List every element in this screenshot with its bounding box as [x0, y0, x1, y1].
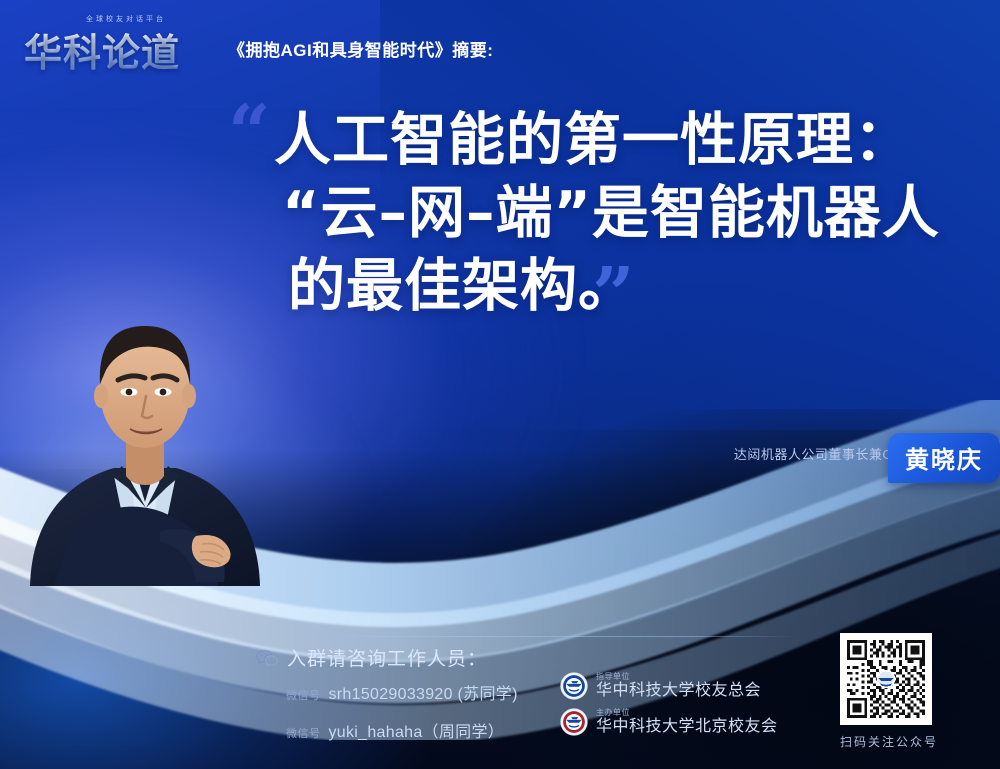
hust-seal-icon [560, 672, 588, 700]
poster-root: 全球校友对话平台 华科论道 《拥抱AGI和具身智能时代》摘要: “ 人工智能的第… [0, 0, 1000, 769]
organization-name: 华中科技大学北京校友会 [596, 718, 778, 736]
organization-row: 指导单位 华中科技大学校友总会 [560, 672, 778, 700]
speaker-portrait [10, 296, 280, 586]
contact-label: 微信号 [286, 687, 321, 703]
qr-caption: 扫码关注公众号 [840, 733, 938, 750]
wechat-icon [256, 649, 278, 667]
qr-code-block: 扫码关注公众号 [840, 633, 938, 750]
speaker-name-badge: 黄晓庆 [888, 433, 1000, 483]
quote-line-1: 人工智能的第一性原理： [274, 104, 954, 177]
footer-title: 入群请咨询工作人员： [287, 644, 487, 671]
contact-value[interactable]: srh15029033920 (苏同学) [329, 680, 518, 704]
organization-kind: 主办单位 [596, 709, 778, 718]
speaker-credit: 达闼机器人公司董事长兼CEO 黄晓庆 [734, 444, 912, 463]
organization-name: 华中科技大学校友总会 [596, 682, 761, 700]
header-subtitle: 《拥抱AGI和具身智能时代》摘要: [228, 36, 493, 70]
speaker-title: 达闼机器人公司董事长兼CEO [734, 444, 912, 463]
contact-value[interactable]: yuki_hahaha（周同学） [329, 718, 505, 742]
organization-row: 主办单位 华中科技大学北京校友会 [560, 708, 778, 736]
organization-list: 指导单位 华中科技大学校友总会 主办单位 华中科技大学北京校友会 [560, 672, 778, 744]
footer-divider [287, 636, 793, 637]
contact-label: 微信号 [286, 725, 321, 741]
brand-logo[interactable]: 全球校友对话平台 华科论道 [24, 14, 214, 70]
quote-close-mark: ” [592, 258, 635, 332]
logo-wordmark: 华科论道 [24, 22, 180, 77]
quote-open-mark: “ [228, 96, 271, 170]
qr-code-image[interactable] [840, 633, 932, 725]
footer-heading-row: 入群请咨询工作人员： [256, 644, 816, 671]
organization-kind: 指导单位 [596, 673, 761, 682]
hust-beijing-seal-icon [560, 708, 588, 736]
organization-text: 指导单位 华中科技大学校友总会 [596, 673, 761, 699]
header: 全球校友对话平台 华科论道 《拥抱AGI和具身智能时代》摘要: [24, 14, 493, 70]
organization-text: 主办单位 华中科技大学北京校友会 [596, 709, 778, 735]
quote-line-2: “云–网–端”是智能机器人 [282, 177, 954, 250]
